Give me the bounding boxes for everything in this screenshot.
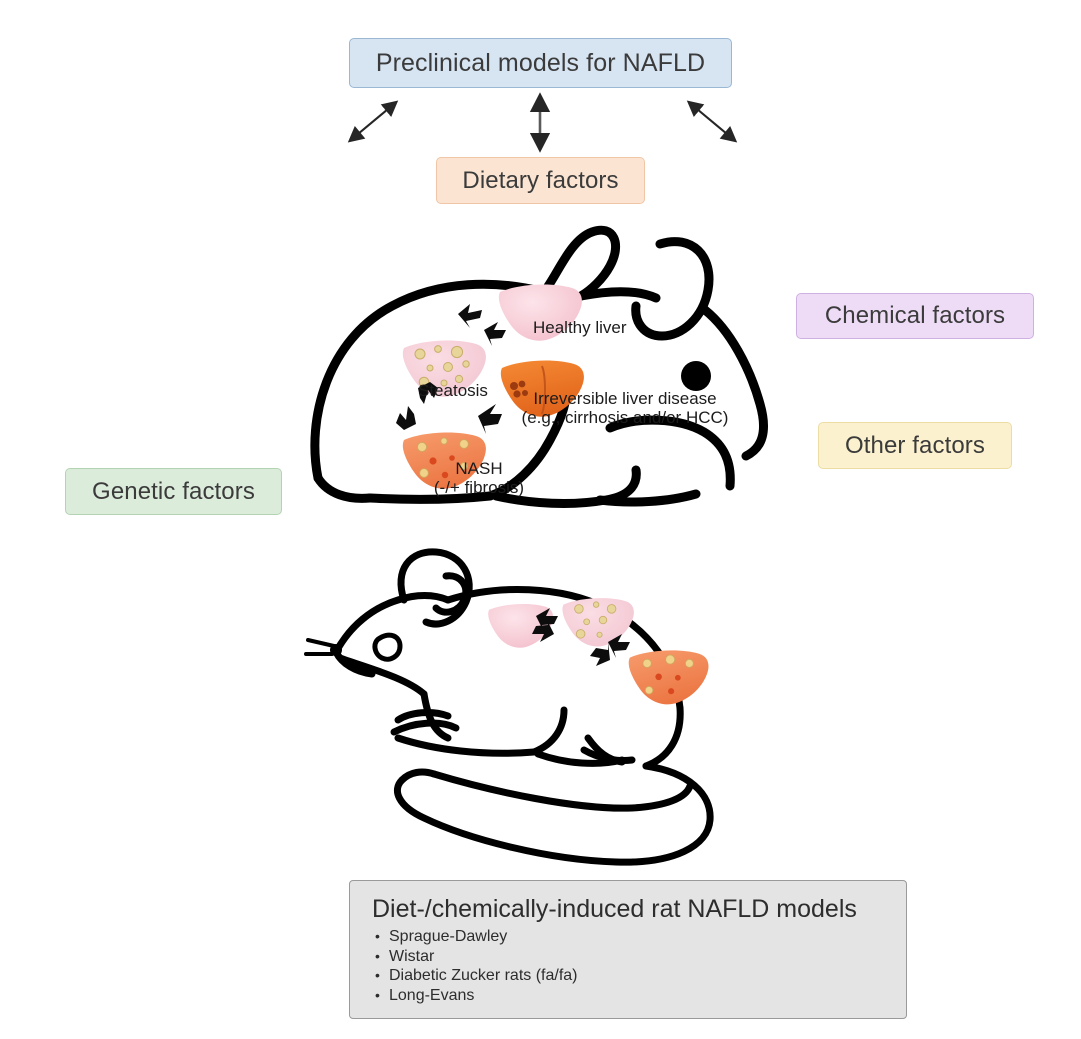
list-item: Diabetic Zucker rats (fa/fa) — [372, 966, 906, 986]
rat-models-panel: Diet-/chemically-induced rat NAFLD model… — [349, 880, 907, 1019]
rat-nose — [330, 644, 342, 656]
label-nash-line1: NASH — [405, 459, 553, 478]
label-irreversible-liver-disease: Irreversible liver disease (e.g., cirrho… — [519, 389, 731, 427]
title-box-preclinical-models[interactable]: Preclinical models for NAFLD — [349, 38, 732, 88]
rat-models-title: Diet-/chemically-induced rat NAFLD model… — [372, 895, 906, 924]
factor-box-chemical-label: Chemical factors — [825, 302, 1005, 330]
label-steatosis: Steatosis — [418, 381, 488, 400]
list-item: Wistar — [372, 947, 906, 967]
label-healthy-liver: Healthy liver — [533, 318, 627, 337]
factor-box-dietary[interactable]: Dietary factors — [436, 157, 645, 204]
list-item: Long-Evans — [372, 986, 906, 1006]
rat-whiskers — [306, 640, 334, 654]
label-nash: NASH (-/+ fibrosis) — [405, 459, 553, 497]
label-nash-line2: (-/+ fibrosis) — [405, 478, 553, 497]
rat-illustration — [298, 542, 784, 877]
factor-box-chemical[interactable]: Chemical factors — [796, 293, 1034, 339]
rat-models-list: Sprague-Dawley Wistar Diabetic Zucker ra… — [372, 927, 906, 1005]
liver-icon-nash-rat — [629, 650, 709, 704]
rat-body-outline — [336, 552, 710, 862]
label-irreversible-line1: Irreversible liver disease — [519, 389, 731, 408]
arrow-right — [691, 104, 733, 139]
arrow-left — [352, 104, 394, 139]
factor-box-dietary-label: Dietary factors — [462, 167, 618, 195]
factor-box-other[interactable]: Other factors — [818, 422, 1012, 469]
label-irreversible-line2: (e.g., cirrhosis and/or HCC) — [519, 408, 731, 427]
mouse-eye — [681, 361, 711, 391]
factor-box-genetic-label: Genetic factors — [92, 478, 255, 506]
factor-box-other-label: Other factors — [845, 432, 985, 460]
factor-box-genetic[interactable]: Genetic factors — [65, 468, 282, 515]
liver-icon-steatosis-rat — [562, 598, 633, 646]
rat-eye — [375, 635, 400, 659]
figure-canvas: Preclinical models for NAFLD Dietary fac… — [0, 0, 1081, 1039]
title-box-label: Preclinical models for NAFLD — [376, 49, 705, 78]
list-item: Sprague-Dawley — [372, 927, 906, 947]
